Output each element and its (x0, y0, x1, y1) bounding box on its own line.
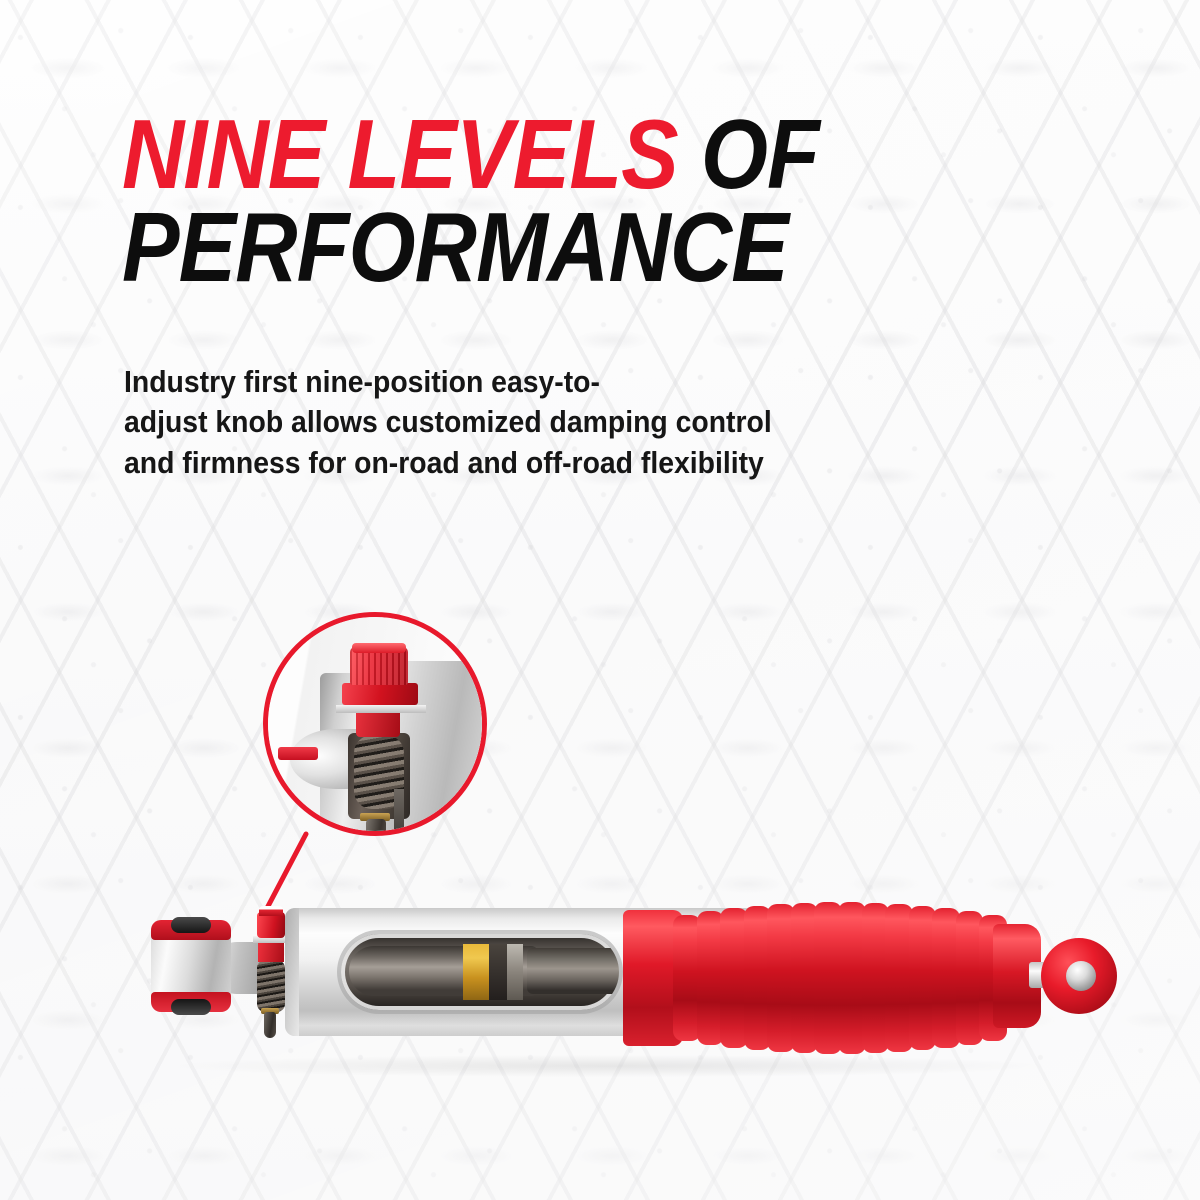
piston-dark-band (489, 944, 507, 1000)
callout-detail-circle (263, 612, 487, 836)
knob-valve-pin (264, 1012, 276, 1038)
right-eyelet-sleeve (1066, 961, 1096, 991)
subcopy: Industry first nine-position easy-to- ad… (124, 362, 961, 483)
adjuster-knob-top (259, 906, 283, 916)
subcopy-line-3: and firmness for on-road and off-road fl… (124, 443, 961, 483)
callout-image-clip (268, 617, 482, 831)
headline: NINE LEVELS OF PERFORMANCE (122, 108, 967, 294)
knob-body (258, 942, 284, 962)
knob-spring-cavity (257, 960, 285, 1012)
callout-knob-flange (342, 683, 418, 705)
subcopy-line-2: adjust knob allows customized damping co… (124, 402, 961, 442)
headline-line-1: NINE LEVELS OF (122, 108, 967, 201)
left-bushing-hub-bottom (171, 999, 211, 1015)
gold-piston-band (463, 944, 489, 1000)
cylinder-left-edge (285, 908, 299, 1036)
callout-valve-pin (366, 819, 386, 831)
callout-ring-border (263, 612, 487, 836)
callout-housing-slot (394, 789, 404, 831)
piston-steel-ring (507, 944, 523, 1000)
adjuster-knob-assembly (253, 902, 289, 1022)
callout-knob-base-plate (336, 705, 426, 713)
headline-line-2: PERFORMANCE (122, 201, 967, 294)
callout-red-bushing-edge (278, 747, 318, 760)
subcopy-line-1: Industry first nine-position easy-to- (124, 362, 961, 402)
callout-knob-stem (356, 711, 400, 737)
callout-knob-top-face (352, 643, 406, 653)
product-ground-shadow (180, 1055, 1040, 1077)
dust-boot (673, 902, 1003, 1054)
piston-rod-right (527, 948, 619, 994)
shock-absorber-product (145, 890, 1090, 1070)
marketing-graphic: NINE LEVELS OF PERFORMANCE Industry firs… (0, 0, 1200, 1200)
left-bushing-hub-top (171, 917, 211, 933)
cutaway-window (341, 934, 619, 1010)
